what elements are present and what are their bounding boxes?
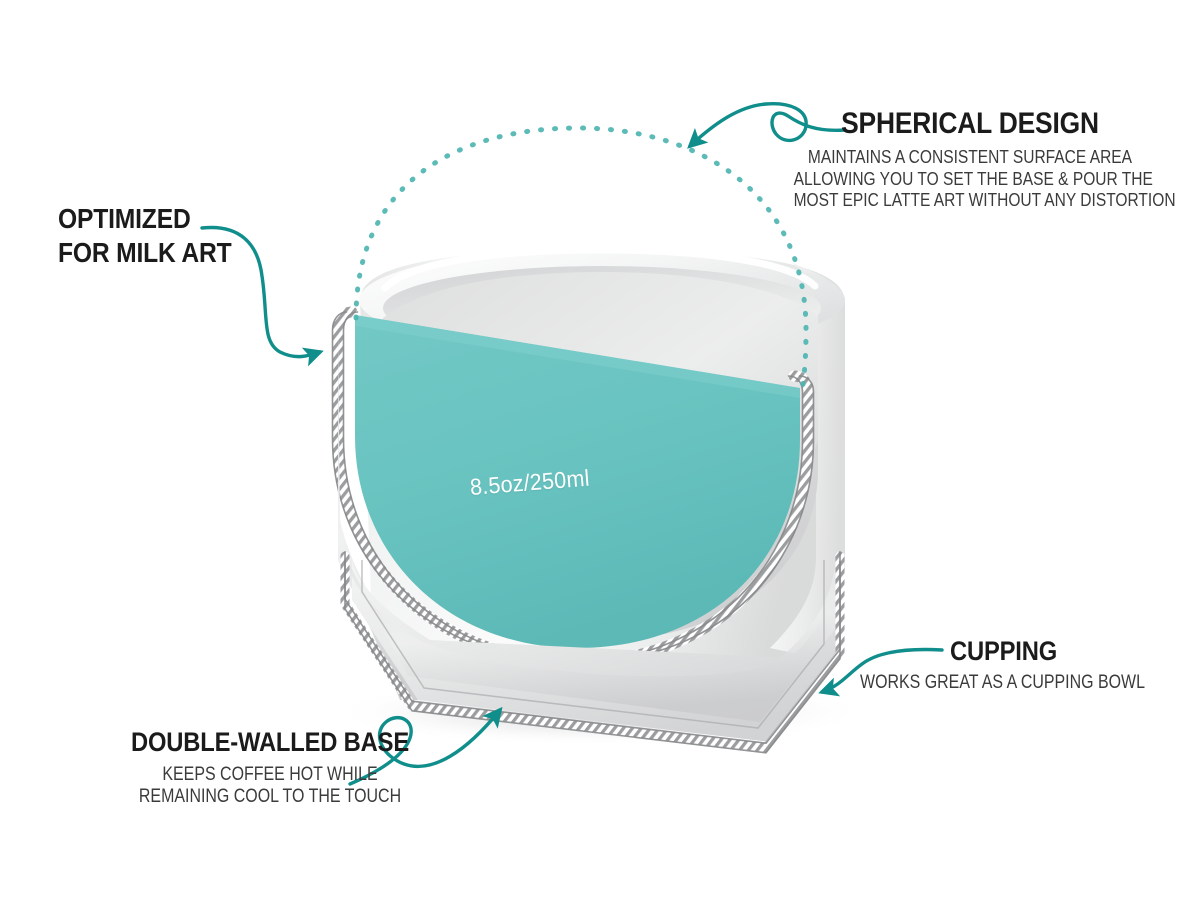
callout-body-cupping: WORKS GREAT AS A CUPPING BOWL (860, 672, 1137, 694)
callout-cupping: CUPPING WORKS GREAT AS A CUPPING BOWL (860, 637, 1190, 694)
callout-headline-optimized-for-milk-art: OPTIMIZED FOR MILK ART (58, 202, 322, 270)
callout-headline-cupping: CUPPING (950, 637, 1161, 666)
infographic-canvas: SPHERICAL DESIGN MAINTAINS A CONSISTENT … (0, 0, 1200, 900)
callout-headline-spherical-design: SPHERICAL DESIGN (785, 108, 1155, 140)
callout-double-walled-base: DOUBLE-WALLED BASE KEEPS COFFEE HOT WHIL… (60, 728, 480, 808)
callout-optimized-for-milk-art: OPTIMIZED FOR MILK ART (58, 202, 358, 270)
callout-spherical-design: SPHERICAL DESIGN MAINTAINS A CONSISTENT … (760, 108, 1180, 211)
callout-body-spherical-design: MAINTAINS A CONSISTENT SURFACE AREA ALLO… (794, 146, 1147, 210)
callout-headline-double-walled-base: DOUBLE-WALLED BASE (85, 728, 455, 757)
callout-body-double-walled-base: KEEPS COFFEE HOT WHILE REMAINING COOL TO… (94, 764, 447, 808)
